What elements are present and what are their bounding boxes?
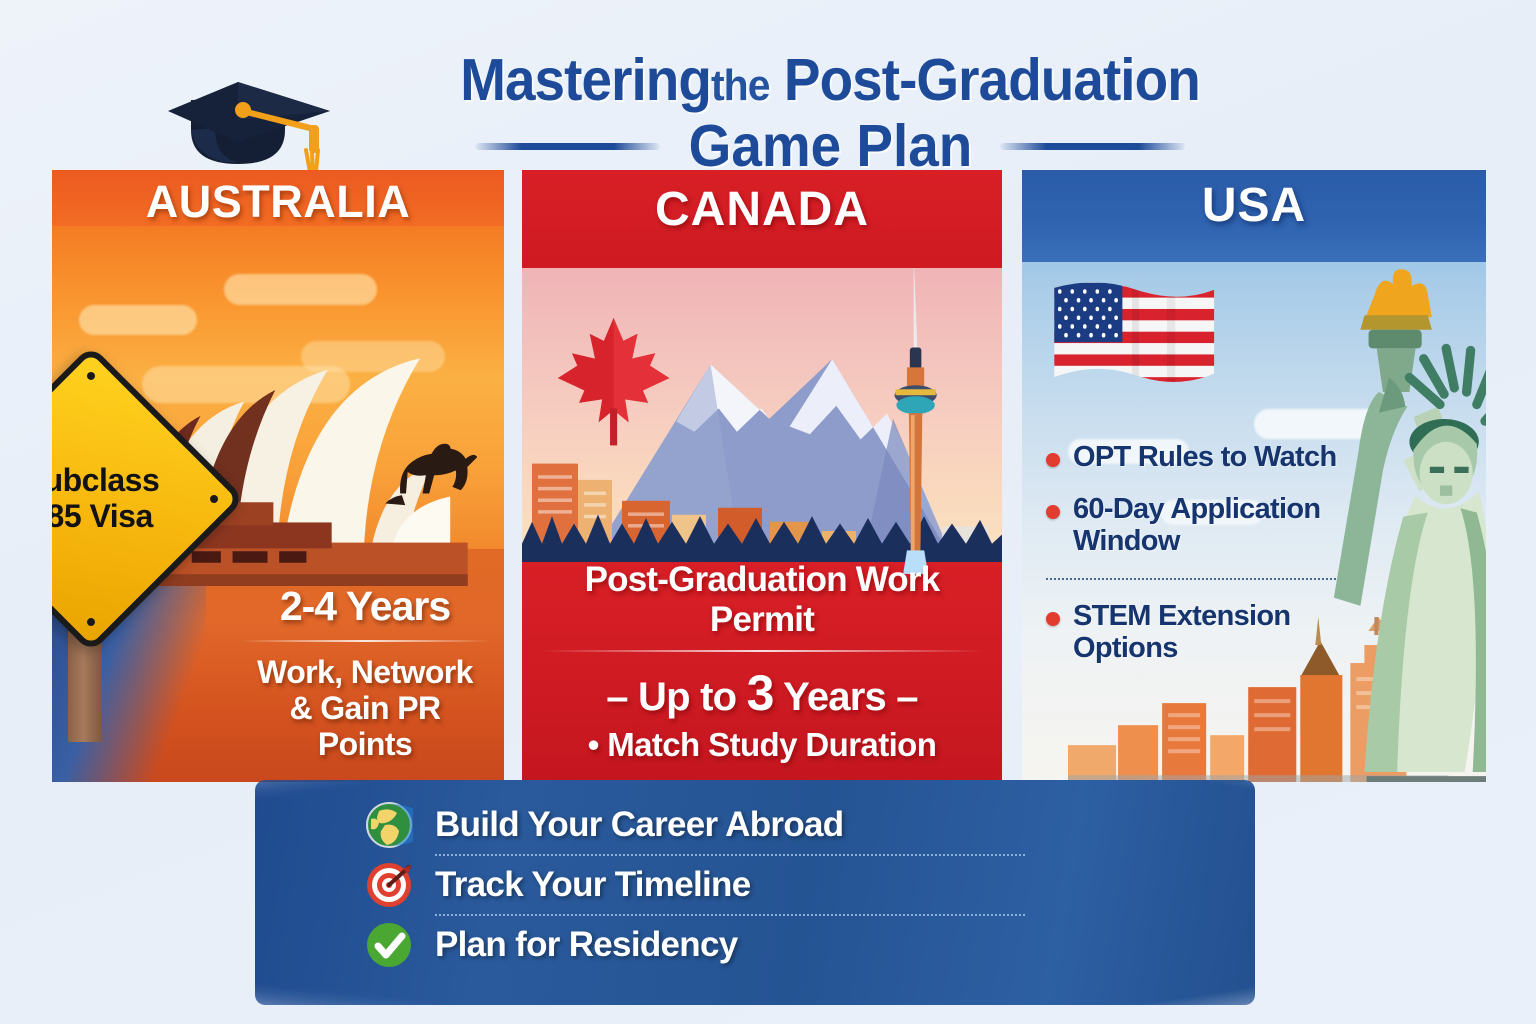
divider <box>540 650 984 652</box>
title-rule-left <box>475 143 660 150</box>
canada-copy: Post-Graduation Work Permit – Up to 3 Ye… <box>522 560 1002 764</box>
title-rule-right <box>1000 143 1185 150</box>
panel-usa[interactable]: USA OPT Rules to Watch 60-Day Applicatio… <box>1022 170 1486 782</box>
banner-label-residency: Plan for Residency <box>435 925 738 965</box>
usa-bullet-2: 60-Day Application Window <box>1073 494 1346 558</box>
infographic-canvas: Masteringthe Post-Graduation Game Plan <box>0 0 1536 1024</box>
check-circle-icon <box>365 921 413 969</box>
graduation-cap-icon <box>163 58 338 183</box>
banner-item-timeline[interactable]: Track Your Timeline <box>365 856 1125 914</box>
list-item[interactable]: OPT Rules to Watch <box>1046 442 1346 474</box>
cloud-icon <box>79 305 197 336</box>
panel-title-australia: AUSTRALIA <box>52 176 504 228</box>
canada-duration-number: 3 <box>747 665 774 721</box>
panel-title-usa: USA <box>1022 178 1486 233</box>
canada-heading: Post-Graduation Work Permit <box>540 560 984 640</box>
cloud-icon <box>224 274 378 305</box>
page-title: Masteringthe Post-Graduation Game Plan <box>330 50 1330 180</box>
visa-badge-line2: 485 Visa <box>52 499 153 535</box>
panel-canada[interactable]: CANADA Post-Graduation Work Permit – Up … <box>522 170 1002 782</box>
kangaroo-icon <box>377 403 476 538</box>
bullet-icon <box>1046 612 1060 626</box>
canada-duration-prefix: – Up to <box>606 675 736 719</box>
bottom-banner: Build Your Career Abroad Track Your Tim <box>255 780 1255 1005</box>
panel-title-canada: CANADA <box>522 182 1002 237</box>
bullet-icon <box>1046 453 1060 467</box>
cn-tower-icon <box>882 256 949 574</box>
list-item[interactable]: STEM Extension Options <box>1046 601 1346 665</box>
divider <box>240 640 490 642</box>
canada-note: • Match Study Duration <box>540 726 984 764</box>
target-icon <box>365 861 413 909</box>
divider <box>435 914 1025 916</box>
country-panels: 2-4 Years Work, Network & Gain PR Points… <box>0 170 1536 785</box>
title-word-the: the <box>711 61 770 110</box>
visa-badge-line1: Subclass <box>52 463 159 499</box>
canada-duration-suffix: Years – <box>783 675 918 719</box>
banner-label-timeline: Track Your Timeline <box>435 865 750 905</box>
title-word-mastering: Mastering <box>460 47 711 113</box>
list-item[interactable]: 60-Day Application Window <box>1046 494 1346 558</box>
panel-australia[interactable]: 2-4 Years Work, Network & Gain PR Points… <box>52 170 504 782</box>
banner-item-residency[interactable]: Plan for Residency <box>365 916 1125 974</box>
australia-subtitle-1: Work, Network <box>257 654 473 690</box>
divider <box>435 854 1025 856</box>
australia-subtitle-2: & Gain PR Points <box>289 690 440 762</box>
australia-copy: 2-4 Years Work, Network & Gain PR Points <box>240 583 490 762</box>
australia-duration: 2-4 Years <box>240 583 490 630</box>
usa-bullet-list: OPT Rules to Watch 60-Day Application Wi… <box>1046 442 1346 684</box>
usa-bullet-3: STEM Extension Options <box>1073 601 1346 665</box>
us-flag-icon <box>1050 274 1217 396</box>
globe-icon <box>365 801 413 849</box>
maple-leaf-icon <box>556 292 671 469</box>
road-sign-icon[interactable]: Subclass 485 Visa <box>68 542 102 742</box>
banner-label-career: Build Your Career Abroad <box>435 805 843 845</box>
header: Masteringthe Post-Graduation Game Plan <box>0 20 1536 170</box>
bullet-icon <box>1046 505 1060 519</box>
usa-bullet-1: OPT Rules to Watch <box>1073 442 1336 474</box>
title-word-postgrad: Post-Graduation <box>784 47 1200 113</box>
banner-item-career[interactable]: Build Your Career Abroad <box>365 796 1125 854</box>
divider <box>1046 578 1336 581</box>
